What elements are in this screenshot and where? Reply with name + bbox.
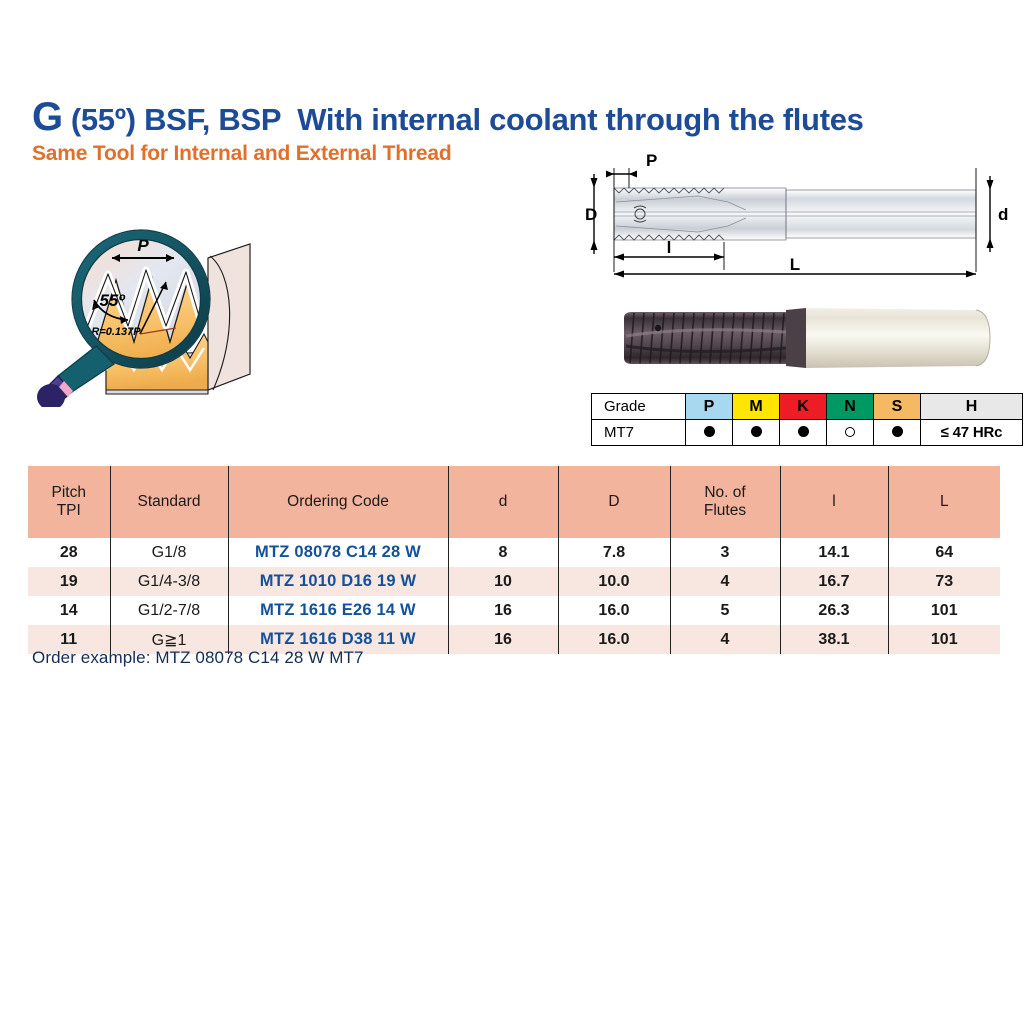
- pitch-label-line1: Pitch: [52, 484, 86, 501]
- cell-d: 8: [448, 538, 558, 567]
- order-example-text: Order example: MTZ 08078 C14 28 W MT7: [32, 648, 364, 668]
- cell-ordering-code: MTZ 1616 E26 14 W: [228, 596, 448, 625]
- hollow-dot-icon: [845, 427, 855, 437]
- dimension-major-diameter: D: [585, 174, 598, 254]
- grade-column-H: H: [921, 394, 1023, 420]
- tool-body-illustration: [614, 188, 976, 240]
- cell-l: 26.3: [780, 596, 888, 625]
- cell-pitch-tpi: 28: [28, 538, 110, 567]
- column-header-pitch-tpi: Pitch TPI: [28, 466, 110, 538]
- grade-column-K: K: [780, 394, 827, 420]
- cell-pitch-tpi: 14: [28, 596, 110, 625]
- grade-column-P: P: [686, 394, 733, 420]
- title-description: With internal coolant through the flutes: [297, 102, 863, 137]
- flutes-label-line2: Flutes: [704, 502, 746, 519]
- column-header-standard: Standard: [110, 466, 228, 538]
- title-standard-designation: (55º) BSF, BSP: [71, 102, 281, 137]
- grade-header-label: Grade: [592, 394, 686, 420]
- table-header-row: Pitch TPI Standard Ordering Code d D No.…: [28, 466, 1000, 538]
- dimension-pitch: P: [606, 152, 657, 178]
- cell-l: 38.1: [780, 625, 888, 654]
- tool-dimension-drawing: P D d l L: [578, 152, 1014, 287]
- grade-table-row: MT7 ≤ 47 HRc: [592, 420, 1023, 446]
- column-header-ordering-code: Ordering Code: [228, 466, 448, 538]
- tool-product-photo: [600, 296, 1000, 380]
- grade-hardness-value: ≤ 47 HRc: [921, 420, 1023, 446]
- thread-profile-illustration: P 55º R=0.137P: [28, 222, 293, 407]
- root-radius-label: R=0.137P: [91, 326, 141, 338]
- cell-standard: G1/4-3/8: [110, 567, 228, 596]
- dimension-overall-length: L: [614, 255, 976, 278]
- grade-column-S: S: [874, 394, 921, 420]
- cell-standard: G1/8: [110, 538, 228, 567]
- catalog-page: G(55º) BSF, BSPWith internal coolant thr…: [0, 0, 1026, 1026]
- cell-d: 10: [448, 567, 558, 596]
- angle-label: 55º: [99, 291, 125, 310]
- pitch-label-line2: TPI: [57, 502, 81, 519]
- filled-dot-icon: [892, 426, 903, 437]
- dimension-label-L: L: [790, 255, 800, 274]
- cell-d: 16: [448, 596, 558, 625]
- cell-standard: G1/2-7/8: [110, 596, 228, 625]
- dimension-label-l: l: [667, 238, 672, 257]
- dimension-shank-diameter: d: [987, 176, 1009, 252]
- cell-pitch-tpi: 19: [28, 567, 110, 596]
- column-header-L: L: [888, 466, 1000, 538]
- filled-dot-icon: [751, 426, 762, 437]
- table-row: 14 G1/2-7/8 MTZ 1616 E26 14 W 16 16.0 5 …: [28, 596, 1000, 625]
- page-title: G(55º) BSF, BSPWith internal coolant thr…: [32, 96, 892, 138]
- cell-l: 14.1: [780, 538, 888, 567]
- title-logo-letter: G: [32, 95, 63, 139]
- cell-ordering-code: MTZ 08078 C14 28 W: [228, 538, 448, 567]
- dimension-label-P: P: [646, 152, 657, 170]
- cell-L: 64: [888, 538, 1000, 567]
- table-row: 19 G1/4-3/8 MTZ 1010 D16 19 W 10 10.0 4 …: [28, 567, 1000, 596]
- product-specification-table: Pitch TPI Standard Ordering Code d D No.…: [28, 466, 1000, 654]
- column-header-number-of-flutes: No. of Flutes: [670, 466, 780, 538]
- flutes-label-line1: No. of: [704, 484, 745, 501]
- cell-flutes: 4: [670, 567, 780, 596]
- cell-ordering-code: MTZ 1010 D16 19 W: [228, 567, 448, 596]
- cell-flutes: 3: [670, 538, 780, 567]
- cell-D: 10.0: [558, 567, 670, 596]
- column-header-l: l: [780, 466, 888, 538]
- cell-d: 16: [448, 625, 558, 654]
- grade-mark-S: [874, 420, 921, 446]
- grade-column-N: N: [827, 394, 874, 420]
- cell-L: 101: [888, 625, 1000, 654]
- filled-dot-icon: [704, 426, 715, 437]
- grade-application-table: Grade P M K N S H MT7 ≤ 47 HRc: [591, 393, 1023, 446]
- dimension-label-D: D: [585, 205, 597, 224]
- cell-l: 16.7: [780, 567, 888, 596]
- filled-dot-icon: [798, 426, 809, 437]
- grade-mark-M: [733, 420, 780, 446]
- cell-D: 16.0: [558, 625, 670, 654]
- cell-D: 7.8: [558, 538, 670, 567]
- grade-column-M: M: [733, 394, 780, 420]
- cell-flutes: 4: [670, 625, 780, 654]
- grade-table-header-row: Grade P M K N S H: [592, 394, 1023, 420]
- grade-name: MT7: [592, 420, 686, 446]
- cell-D: 16.0: [558, 596, 670, 625]
- grade-mark-P: [686, 420, 733, 446]
- column-header-d: d: [448, 466, 558, 538]
- table-row: 28 G1/8 MTZ 08078 C14 28 W 8 7.8 3 14.1 …: [28, 538, 1000, 567]
- grade-mark-K: [780, 420, 827, 446]
- dimension-label-d: d: [998, 205, 1008, 224]
- dimension-thread-length: l: [614, 238, 724, 261]
- column-header-D-major: D: [558, 466, 670, 538]
- cell-L: 101: [888, 596, 1000, 625]
- grade-mark-N: [827, 420, 874, 446]
- cell-flutes: 5: [670, 596, 780, 625]
- cell-L: 73: [888, 567, 1000, 596]
